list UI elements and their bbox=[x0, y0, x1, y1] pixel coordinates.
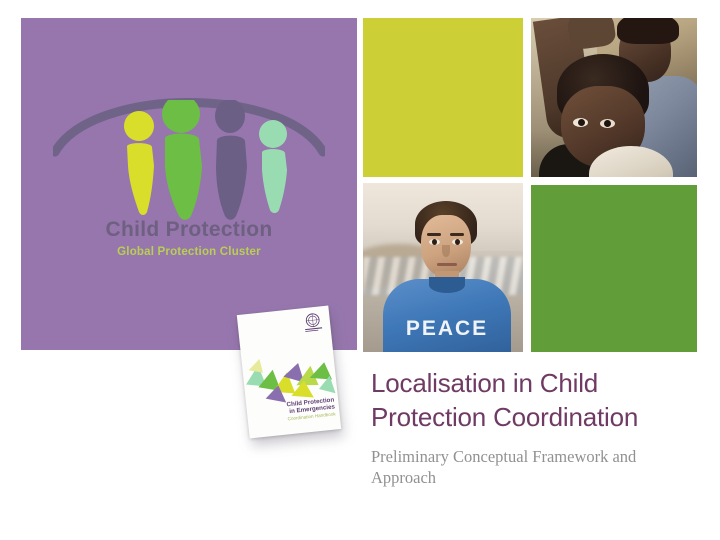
shirt-text: PEACE bbox=[383, 317, 511, 341]
block-green bbox=[531, 185, 697, 352]
boy-eyebrow-right bbox=[450, 233, 464, 236]
boy-pupil-left bbox=[432, 239, 437, 245]
page-title: Localisation in Child Protection Coordin… bbox=[371, 366, 701, 434]
page-subtitle: Preliminary Conceptual Framework and App… bbox=[371, 446, 701, 488]
boy-eyebrow-left bbox=[427, 233, 441, 236]
handbook-booklet: Child Protection in Emergencies Coordina… bbox=[237, 306, 341, 439]
logo-figures-icon bbox=[21, 100, 357, 220]
boy-mouth bbox=[437, 263, 457, 266]
photo-boy-peace-shirt: PEACE bbox=[363, 183, 523, 352]
logo-title: Child Protection bbox=[21, 218, 357, 242]
child-pupil-right bbox=[604, 120, 611, 127]
title-text-block: Localisation in Child Protection Coordin… bbox=[371, 366, 701, 488]
boy-shirt-collar bbox=[429, 277, 465, 293]
photo-adult-and-child bbox=[531, 18, 697, 177]
figure-mint bbox=[259, 120, 287, 213]
boy-nose bbox=[442, 245, 450, 257]
panel-purple: Child Protection Global Protection Clust… bbox=[21, 18, 357, 350]
figure-green bbox=[162, 100, 202, 220]
block-yellow-green bbox=[363, 18, 523, 177]
presentation-title-slide: Child Protection Global Protection Clust… bbox=[0, 0, 720, 540]
figure-purple bbox=[215, 100, 247, 220]
unicef-seal-icon bbox=[301, 311, 325, 333]
child-protection-logo: Child Protection Global Protection Clust… bbox=[21, 78, 357, 298]
booklet-cover: Child Protection in Emergencies Coordina… bbox=[237, 306, 341, 439]
child-pupil-left bbox=[578, 119, 585, 126]
figure-yellow bbox=[124, 111, 154, 215]
logo-cluster-label: Global Protection Cluster bbox=[21, 246, 357, 258]
boy-pupil-right bbox=[455, 239, 460, 245]
adult-hair bbox=[617, 18, 679, 44]
